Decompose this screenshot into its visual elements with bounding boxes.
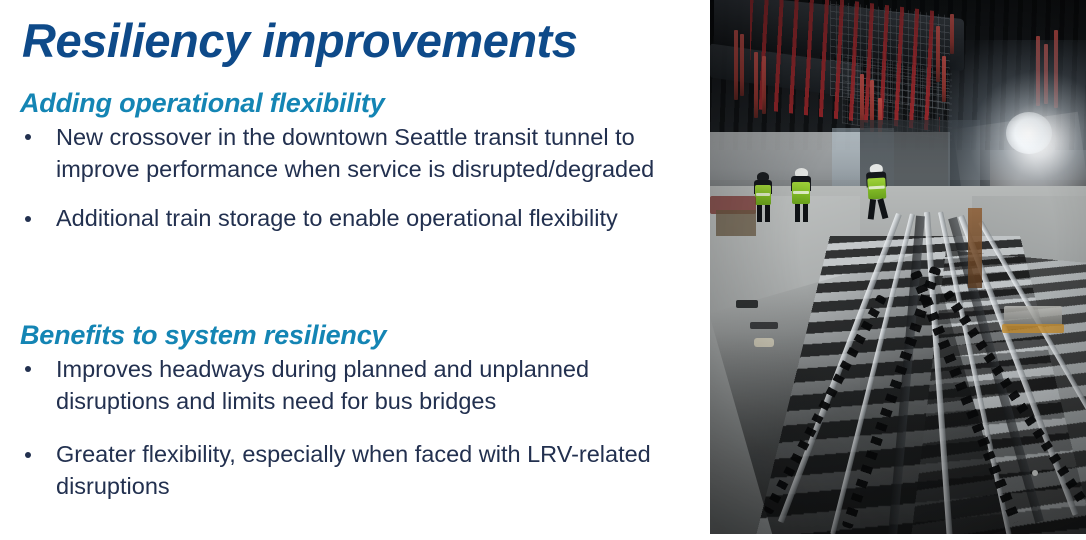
- photo-red-hanger: [740, 34, 744, 96]
- list-item-label: Improves headways during planned and unp…: [56, 356, 589, 414]
- photo-worker: [861, 163, 894, 220]
- section-heading: Adding operational flexibility: [20, 88, 680, 118]
- photo-worker-leg: [803, 204, 808, 222]
- list-item: Improves headways during planned and unp…: [20, 354, 680, 417]
- photo-worker-leg: [795, 204, 800, 222]
- rail-crossover-construction-photo: [710, 0, 1086, 534]
- photo-red-hanger: [1036, 36, 1040, 106]
- list-item: Additional train storage to enable opera…: [20, 203, 680, 235]
- photo-red-hanger: [936, 26, 940, 82]
- photo-highlight-speck: [1032, 470, 1038, 476]
- list-item-label: New crossover in the downtown Seattle tr…: [56, 124, 654, 182]
- section-adding-operational-flexibility: Adding operational flexibility New cross…: [20, 88, 680, 235]
- photo-worker-leg: [757, 205, 762, 222]
- photo-lumber-stack: [716, 210, 756, 236]
- slide-canvas: Resiliency improvements Adding operation…: [0, 0, 1086, 540]
- bullet-list: New crossover in the downtown Seattle tr…: [20, 122, 680, 235]
- photo-floor-debris: [750, 322, 778, 329]
- photo-red-hanger: [1044, 44, 1048, 104]
- photo-red-hanger: [1054, 30, 1058, 108]
- list-item: Greater flexibility, especially when fac…: [20, 439, 680, 502]
- section-heading: Benefits to system resiliency: [20, 320, 680, 350]
- photo-worker: [787, 168, 815, 222]
- bullet-dot-icon: [25, 134, 31, 140]
- photo-equipment-panel: [1004, 306, 1062, 326]
- photo-floor-debris-light: [754, 338, 774, 347]
- photo-red-hanger: [734, 30, 738, 100]
- bullet-dot-icon: [25, 366, 31, 372]
- photo-red-conduit-rack: [750, 0, 940, 132]
- photo-worker-leg: [877, 198, 888, 219]
- photo-red-hanger: [762, 56, 766, 114]
- bullet-list: Improves headways during planned and unp…: [20, 354, 680, 502]
- list-item-label: Additional train storage to enable opera…: [56, 205, 618, 231]
- photo-equipment-base: [1002, 324, 1064, 333]
- photo-worker-vest-stripe: [793, 191, 809, 194]
- photo-red-hanger: [950, 14, 954, 54]
- photo-worker-vest-stripe: [756, 193, 770, 196]
- bullet-dot-icon: [25, 216, 31, 222]
- photo-red-hanger: [754, 52, 758, 118]
- bullet-dot-icon: [25, 452, 31, 458]
- text-column: Resiliency improvements Adding operation…: [0, 0, 700, 540]
- page-title: Resiliency improvements: [22, 16, 692, 66]
- photo-red-hanger: [942, 56, 946, 102]
- photo-post: [968, 208, 982, 288]
- list-item: New crossover in the downtown Seattle tr…: [20, 122, 680, 185]
- photo-worker-leg: [868, 199, 876, 220]
- photo-worker-leg: [765, 205, 770, 222]
- list-item-label: Greater flexibility, especially when fac…: [56, 441, 651, 499]
- photo-floor-debris: [736, 300, 758, 308]
- photo-work-light-core: [1006, 112, 1052, 154]
- section-benefits-to-system-resiliency: Benefits to system resiliency Improves h…: [20, 320, 680, 525]
